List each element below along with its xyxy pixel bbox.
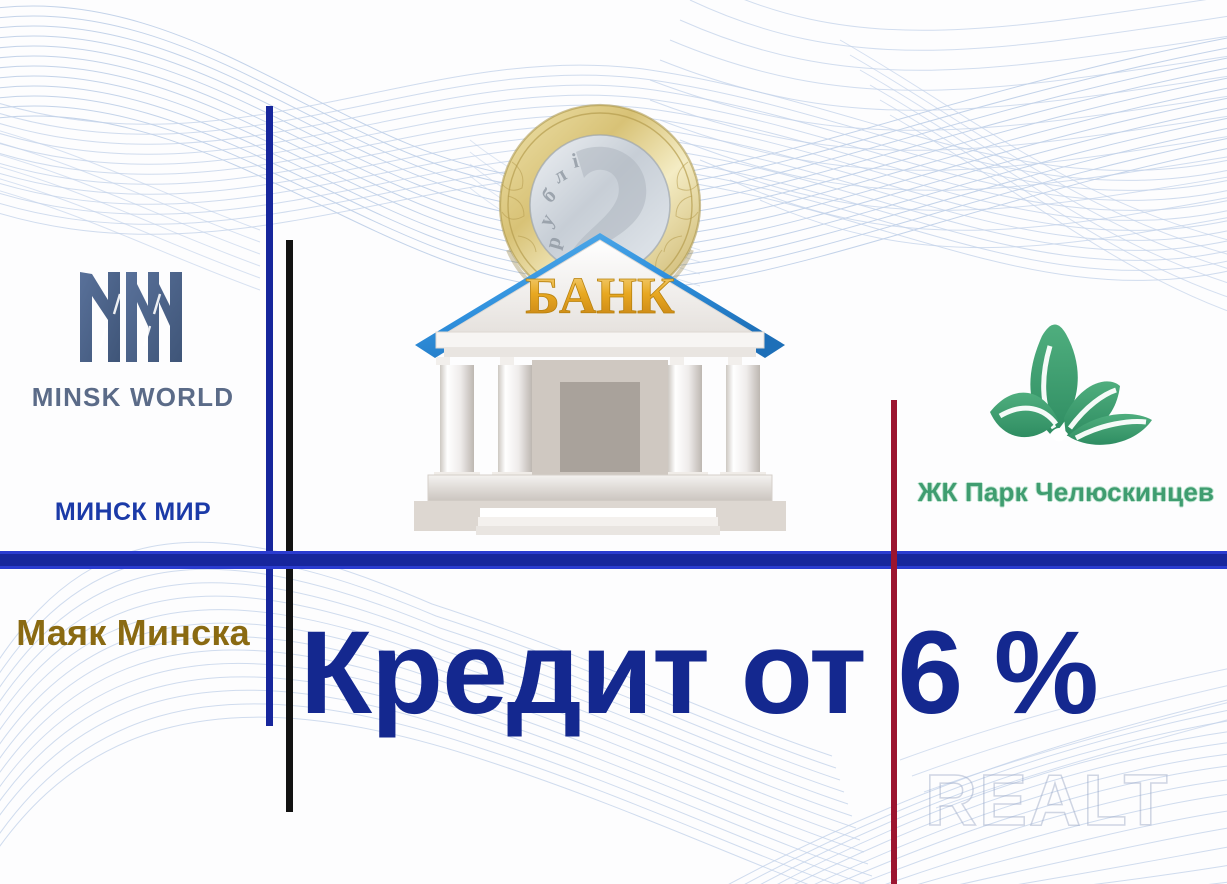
vertical-divider-blue <box>266 106 273 726</box>
minsk-world-cyrillic-name: МИНСК МИР <box>0 498 266 527</box>
bank-building-with-coin-illustration: р у б л і БАНК <box>400 100 800 540</box>
bank-base <box>414 475 786 535</box>
brand-park-chelyuskintsev: ЖК Парк Челюскинцев <box>905 300 1227 508</box>
mw-monogram-icon <box>74 262 192 368</box>
headline-credit-rate: Кредит от 6 % <box>300 614 900 732</box>
park-chelyuskintsev-name: ЖК Парк Челюскинцев <box>905 477 1227 508</box>
brand-mayak-minska: Маяк Минска <box>0 612 266 654</box>
minsk-world-latin-name: MINSK WORLD <box>0 382 266 413</box>
bank-pediment: БАНК <box>436 240 764 357</box>
vertical-divider-black <box>286 240 293 812</box>
green-leaves-icon <box>946 300 1186 460</box>
bank-sign-text: БАНК <box>525 268 675 325</box>
realt-watermark: REALT <box>925 760 1170 842</box>
horizontal-divider-blue <box>0 551 1227 569</box>
banner-canvas: MINSK WORLD МИНСК МИР Маяк Минска <box>0 0 1227 884</box>
brand-minsk-world: MINSK WORLD МИНСК МИР <box>0 262 266 413</box>
bank-entrance <box>532 360 668 475</box>
